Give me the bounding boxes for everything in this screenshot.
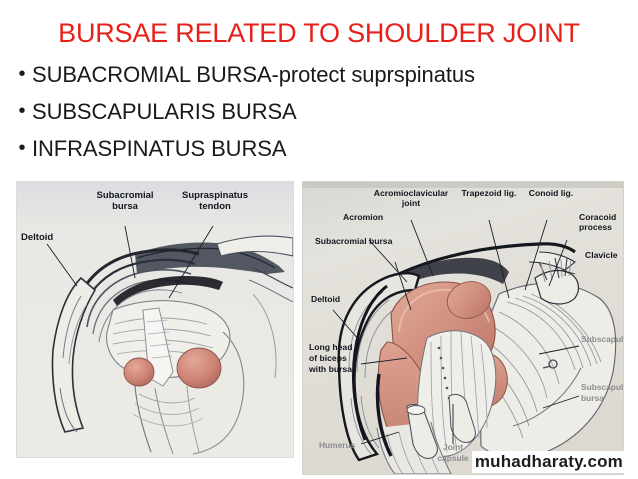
label-joint-capsule-line2: capsule: [437, 453, 469, 463]
figure-anterior-shoulder-bursae: Acromioclavicular joint Trapezoid lig. C…: [303, 182, 623, 474]
label-deltoid: Deltoid: [21, 232, 53, 243]
coracoid-process-shape: [535, 271, 578, 304]
label-subacromial-bursa-line1: Subacromial: [96, 190, 153, 201]
list-item: • SUBACROMIAL BURSA-protect suprspinatus: [12, 60, 612, 97]
label-clavicle: Clavicle: [585, 250, 618, 260]
slide-canvas: BURSAE RELATED TO SHOULDER JOINT • SUBAC…: [0, 0, 638, 479]
bursa-nodule-left: [124, 358, 154, 386]
left-figure-drawing: Subacromial bursa Supraspinatus tendon D…: [17, 182, 293, 457]
bullet-marker-icon: •: [12, 60, 32, 89]
label-subscapularis-bursa-line1: Subscapularis: [581, 382, 623, 392]
label-coracoid-process-line2: process: [579, 222, 612, 232]
page-title: BURSAE RELATED TO SHOULDER JOINT: [0, 18, 638, 49]
label-subscapularis-bursa-line2: bursa: [581, 393, 604, 403]
label-long-head-biceps-line2: of biceps: [309, 353, 347, 363]
bullet-list: • SUBACROMIAL BURSA-protect suprspinatus…: [12, 60, 612, 171]
figure-subacromial-bursa-coronal: Subacromial bursa Supraspinatus tendon D…: [17, 182, 293, 457]
bursa-nodule-right: [177, 348, 221, 388]
label-joint-capsule-line1: Joint: [443, 442, 463, 452]
bullet-marker-icon: •: [12, 97, 32, 126]
bullet-text-3: INFRASPINATUS BURSA: [32, 134, 286, 163]
label-acromion: Acromion: [343, 212, 383, 222]
label-subscapularis: Subscapularis: [581, 334, 623, 344]
label-long-head-biceps-line3: with bursa: [308, 364, 352, 374]
label-coracoid-process-line1: Coracoid: [579, 212, 616, 222]
label-subacromial-bursa: Subacromial bursa: [315, 236, 393, 246]
bullet-text-1: SUBACROMIAL BURSA-protect suprspinatus: [32, 60, 475, 89]
label-supraspinatus-tendon-line2: tendon: [199, 201, 231, 212]
bullet-text-2: SUBSCAPULARIS BURSA: [32, 97, 297, 126]
label-conoid-lig: Conoid lig.: [529, 188, 573, 198]
list-item: • INFRASPINATUS BURSA: [12, 134, 612, 171]
label-supraspinatus-tendon-line1: Supraspinatus: [182, 190, 248, 201]
watermark-muhadharaty: muhadharaty.com: [472, 451, 626, 473]
label-long-head-biceps-line1: Long head: [309, 342, 352, 352]
label-subacromial-bursa-line2: bursa: [112, 201, 139, 212]
right-figure-drawing: Acromioclavicular joint Trapezoid lig. C…: [303, 182, 623, 474]
label-deltoid: Deltoid: [311, 294, 340, 304]
label-humerus: Humerus: [319, 440, 356, 450]
bullet-marker-icon: •: [12, 134, 32, 163]
label-acromioclavicular-joint-line2: joint: [401, 198, 420, 208]
label-trapezoid-lig: Trapezoid lig.: [462, 188, 517, 198]
list-item: • SUBSCAPULARIS BURSA: [12, 97, 612, 134]
label-acromioclavicular-joint-line1: Acromioclavicular: [374, 188, 449, 198]
